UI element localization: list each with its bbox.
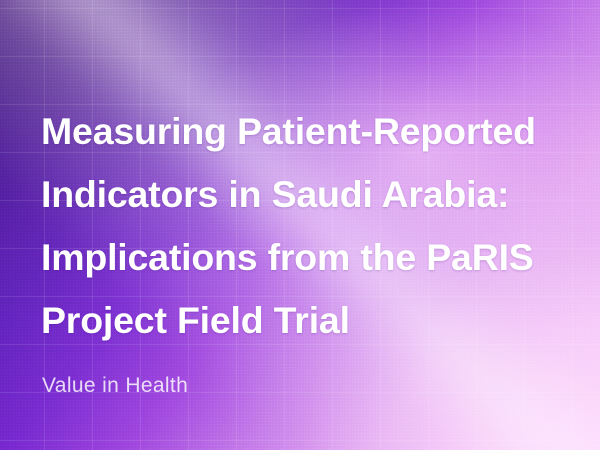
page-title-line-2: Indicators in Saudi Arabia: — [41, 163, 571, 226]
page-title: Measuring Patient-Reported Indicators in… — [41, 100, 571, 352]
page-title-line-1: Measuring Patient-Reported — [41, 100, 571, 163]
title-card: Measuring Patient-Reported Indicators in… — [0, 0, 600, 450]
page-title-line-4: Project Field Trial — [41, 289, 571, 352]
card-content: Measuring Patient-Reported Indicators in… — [0, 0, 600, 450]
journal-name-subtitle: Value in Health — [42, 374, 188, 398]
page-title-line-3: Implications from the PaRIS — [41, 226, 571, 289]
